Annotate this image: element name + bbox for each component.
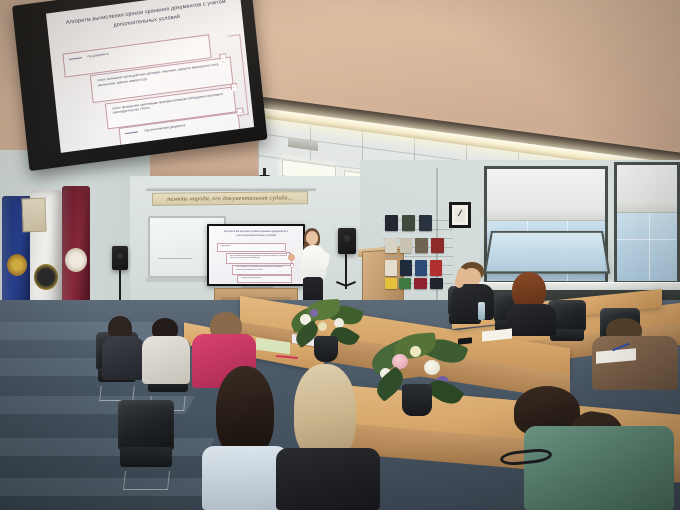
rack-item [400, 260, 412, 276]
bouquet-left [288, 300, 364, 364]
attendee [140, 318, 192, 384]
presenter-arm-right [318, 251, 330, 269]
front-slide-step-1-text: год документа [221, 246, 284, 248]
attendee-torso [592, 336, 678, 390]
chair[interactable] [118, 400, 174, 474]
chair-seat [120, 447, 172, 466]
attendee [506, 272, 558, 336]
wall-clock [449, 202, 471, 228]
attendee-torso [506, 304, 556, 336]
rack-item [385, 215, 398, 231]
chair-back [118, 400, 174, 450]
attendee-hair [216, 366, 274, 458]
slide-lead-line-1 [69, 57, 82, 59]
rack-item [415, 238, 428, 253]
wall-banner-text: память народа, его документальная судьба… [167, 195, 293, 202]
flower-cream [410, 346, 421, 357]
rack-item [414, 278, 427, 289]
rack-item [399, 278, 411, 289]
rack-item [400, 238, 412, 253]
front-slide-title: Алгоритм вычисления сроков хранения доку… [220, 230, 291, 238]
slide-lead-line-4 [126, 132, 139, 134]
roller-blind-left[interactable] [487, 169, 605, 221]
front-slide-step-2-text: после окончания срока действия договора,… [230, 256, 289, 261]
rack-item [385, 260, 397, 276]
speaker-tripod-left [119, 269, 121, 303]
rack-item [402, 215, 415, 231]
tv-screen: Алгоритм вычисления сроков хранения доку… [46, 0, 254, 153]
attendee-torso [102, 336, 144, 380]
rack-item [431, 238, 444, 253]
attendee-torso [276, 448, 380, 510]
front-slide-step-4-text: год уничтожения документа [241, 278, 289, 280]
roller-blind-right[interactable] [617, 165, 677, 213]
window-left [484, 166, 608, 284]
flag-maroon-emblem [65, 248, 87, 272]
window-mullion [617, 239, 677, 240]
front-slide-step-4: год уничтожения документа [237, 275, 292, 283]
lecture-hall-photo: Алгоритм вычисления сроков хранения доку… [0, 0, 680, 510]
pa-speaker-left [112, 246, 128, 270]
rack-item [415, 260, 427, 276]
flower-cream [318, 322, 327, 331]
flower-white-rose [424, 360, 440, 375]
attendee [452, 262, 496, 320]
vase [314, 336, 338, 362]
front-slide-step-3-text: после проведения налоговыми органами про… [236, 267, 289, 272]
chair-legs [99, 386, 134, 401]
pa-speaker-right [338, 228, 356, 254]
flower-purple [310, 309, 318, 317]
slide-step-1-text: год документа [87, 39, 205, 59]
wall-certificate [21, 198, 46, 233]
window-right [614, 162, 680, 284]
brochure-display-rack[interactable] [383, 212, 453, 288]
attendee [276, 364, 382, 510]
carpet-stripe [0, 438, 215, 456]
presenter-hand-left [288, 254, 295, 261]
front-slide-step-3: после проведения налоговыми органами про… [232, 265, 292, 275]
rack-item [430, 260, 442, 276]
awning-window-open[interactable] [484, 231, 611, 274]
rack-item [419, 215, 432, 231]
attendee-torso [142, 336, 190, 384]
wall-banner: память народа, его документальная судьба… [152, 191, 308, 206]
window-mullion [649, 213, 650, 281]
rack-item [385, 278, 397, 289]
attendee-hair-braid [294, 364, 356, 460]
vase [402, 384, 432, 416]
attendee-torso [524, 426, 674, 510]
front-slide-step-1: год документа [217, 243, 287, 252]
rack-item [430, 278, 443, 289]
front-slide-step-2: после окончания срока действия договора,… [226, 253, 292, 263]
flag-white-emblem [34, 264, 58, 290]
chair-legs [123, 471, 170, 490]
window-glass-right [617, 213, 677, 281]
water-bottle [478, 302, 485, 320]
bouquet-right [370, 332, 468, 418]
attendee [504, 386, 680, 510]
attendee-torso [452, 284, 494, 320]
whiteboard-marks [158, 258, 192, 259]
attendee [196, 366, 288, 510]
flag-blue-emblem [7, 254, 27, 276]
rack-item [385, 238, 397, 253]
